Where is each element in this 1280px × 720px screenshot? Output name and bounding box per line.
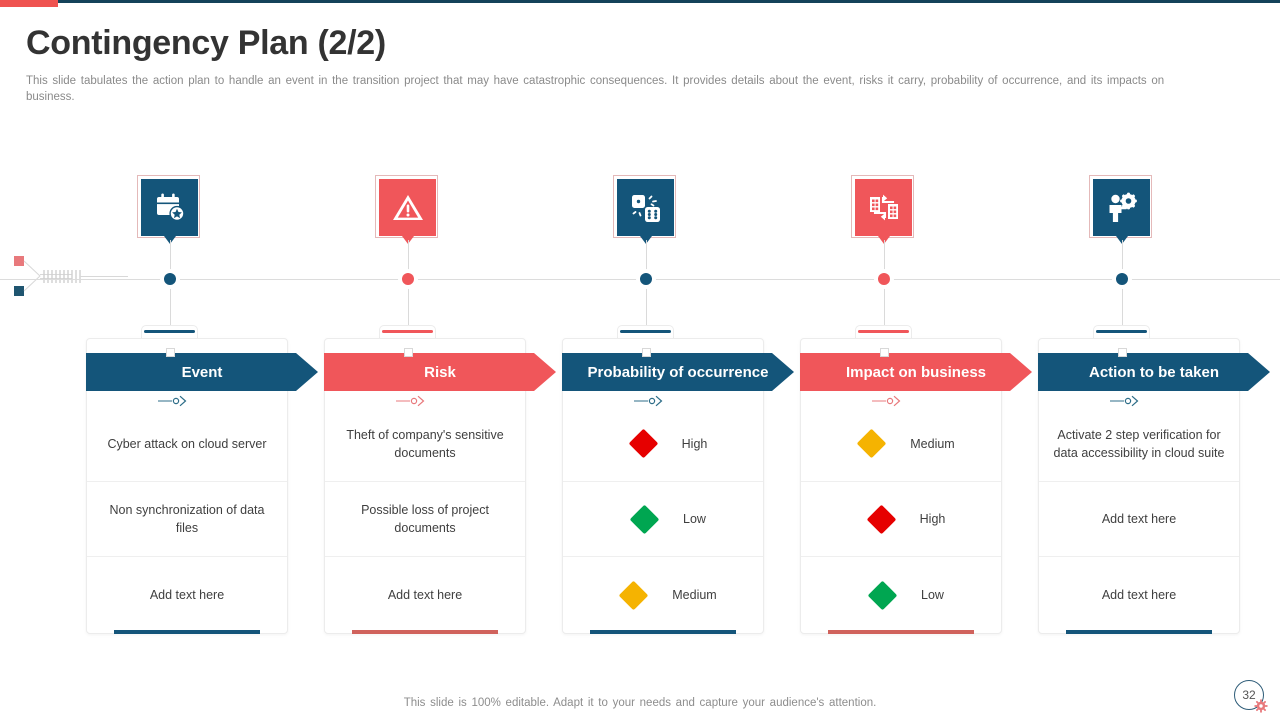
rating-diamond-medium [857, 429, 887, 459]
rating-label: High [920, 510, 946, 528]
card-bottom-bar [828, 630, 974, 634]
rating-diamond-low [868, 580, 898, 610]
gear-icon [1254, 699, 1268, 713]
cell-c5-r1[interactable]: Activate 2 step verification for data ac… [1039, 406, 1239, 482]
icon-tile-1[interactable] [141, 179, 198, 236]
icon-tile-2[interactable] [379, 179, 436, 236]
cell-c5-r3[interactable]: Add text here [1039, 557, 1239, 633]
card-tab-bar [620, 330, 671, 333]
icon-tile-4[interactable] [855, 179, 912, 236]
person-gear-icon [1105, 191, 1139, 225]
column-4: Impact on business Medium High Low [800, 0, 1038, 720]
warning-triangle-icon [391, 191, 425, 225]
rating-label: Low [683, 510, 706, 528]
cell-c5-r2[interactable]: Add text here [1039, 482, 1239, 557]
cell-c3-r2[interactable]: Low [563, 482, 763, 557]
column-3: Probability of occurrence High Low Mediu… [562, 0, 800, 720]
cell-c1-r2[interactable]: Non synchronization of data files [87, 482, 287, 557]
calendar-star-icon [153, 191, 187, 225]
card-bottom-bar [352, 630, 498, 634]
cell-text: Add text here [1088, 586, 1190, 604]
cell-text: Cyber attack on cloud server [93, 435, 280, 453]
banner-notch [404, 348, 413, 357]
cell-c4-r1[interactable]: Medium [801, 406, 1001, 482]
cell-text: Add text here [374, 586, 476, 604]
icon-tile-5[interactable] [1093, 179, 1150, 236]
rating-diamond-high [628, 429, 658, 459]
cell-c2-r1[interactable]: Theft of company's sensitive documents [325, 406, 525, 482]
column-header-1[interactable]: Event [86, 353, 318, 391]
banner-notch [642, 348, 651, 357]
column-5: Action to be taken Activate 2 step verif… [1038, 0, 1276, 720]
column-header-4[interactable]: Impact on business [800, 353, 1032, 391]
card-tab-bar [1096, 330, 1147, 333]
cell-c3-r1[interactable]: High [563, 406, 763, 482]
column-header-5[interactable]: Action to be taken [1038, 353, 1270, 391]
cell-c3-r3[interactable]: Medium [563, 557, 763, 633]
cell-c1-r3[interactable]: Add text here [87, 557, 287, 633]
rating-label: Medium [910, 435, 954, 453]
banner-notch [880, 348, 889, 357]
cell-c2-r2[interactable]: Possible loss of project documents [325, 482, 525, 557]
top-accent-bar [0, 0, 58, 7]
banner-notch [1118, 348, 1127, 357]
cell-text: Non synchronization of data files [87, 501, 287, 537]
cell-text: Theft of company's sensitive documents [325, 426, 525, 462]
column-2: Risk Theft of company's sensitive docume… [324, 0, 562, 720]
cell-text: Add text here [1088, 510, 1190, 528]
rating-diamond-medium [619, 580, 649, 610]
rating-label: Medium [672, 586, 716, 604]
card-bottom-bar [1066, 630, 1212, 634]
column-header-2[interactable]: Risk [324, 353, 556, 391]
banner-notch [166, 348, 175, 357]
footer-note: This slide is 100% editable. Adapt it to… [0, 697, 1280, 709]
cell-c1-r1[interactable]: Cyber attack on cloud server [87, 406, 287, 482]
cell-text: Add text here [136, 586, 238, 604]
card-tab-bar [382, 330, 433, 333]
cell-c2-r3[interactable]: Add text here [325, 557, 525, 633]
rating-diamond-high [866, 504, 896, 534]
timeline-node-4[interactable] [878, 273, 890, 285]
rating-diamond-low [630, 504, 660, 534]
column-1: Event Cyber attack on cloud serverNon sy… [86, 0, 324, 720]
timeline-node-5[interactable] [1116, 273, 1128, 285]
rating-label: Low [921, 586, 944, 604]
cell-text: Possible loss of project documents [325, 501, 525, 537]
cell-c4-r3[interactable]: Low [801, 557, 1001, 633]
page-badge: 32 [1234, 680, 1268, 714]
timeline-node-3[interactable] [640, 273, 652, 285]
dice-icon [629, 191, 663, 225]
card-tab-bar [144, 330, 195, 333]
card-bottom-bar [590, 630, 736, 634]
rating-label: High [682, 435, 708, 453]
card-tab-bar [858, 330, 909, 333]
cell-c4-r2[interactable]: High [801, 482, 1001, 557]
building-transfer-icon [867, 191, 901, 225]
cell-text: Activate 2 step verification for data ac… [1039, 426, 1239, 462]
card-bottom-bar [114, 630, 260, 634]
timeline-node-2[interactable] [402, 273, 414, 285]
icon-tile-3[interactable] [617, 179, 674, 236]
timeline-node-1[interactable] [164, 273, 176, 285]
column-header-3[interactable]: Probability of occurrence [562, 353, 794, 391]
